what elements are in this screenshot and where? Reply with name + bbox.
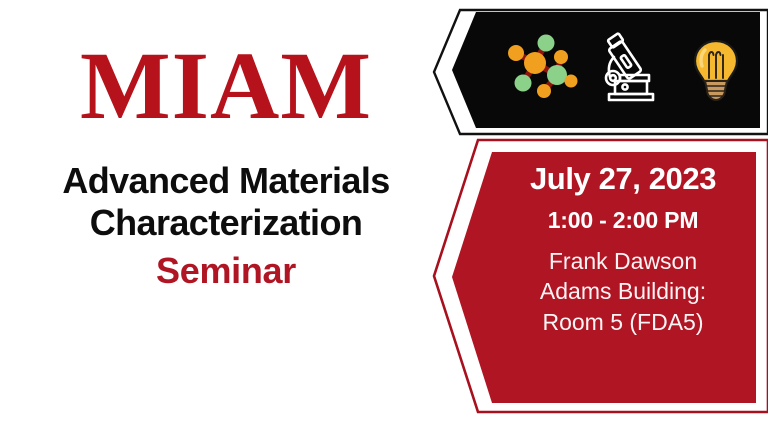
title-highlight-seminar: Seminar xyxy=(0,250,452,292)
event-location-line-2: Adams Building: xyxy=(487,276,759,307)
seminar-title: Advanced Materials Characterization Semi… xyxy=(0,160,452,291)
event-date: July 27, 2023 xyxy=(487,160,759,199)
event-location-line-1: Frank Dawson xyxy=(487,246,759,277)
event-details-panel: July 27, 2023 1:00 - 2:00 PM Frank Dawso… xyxy=(487,160,759,337)
title-line-2: Characterization xyxy=(0,202,452,244)
black-banner xyxy=(452,12,760,128)
brand-logo: MIAM xyxy=(0,38,452,134)
event-location: Frank Dawson Adams Building: Room 5 (FDA… xyxy=(487,246,759,338)
seminar-poster: MIAM Advanced Materials Characterization… xyxy=(0,0,768,432)
title-line-1: Advanced Materials xyxy=(0,160,452,202)
event-location-line-3: Room 5 (FDA5) xyxy=(487,307,759,338)
left-text-block: MIAM Advanced Materials Characterization… xyxy=(0,0,452,432)
event-time: 1:00 - 2:00 PM xyxy=(487,206,759,236)
